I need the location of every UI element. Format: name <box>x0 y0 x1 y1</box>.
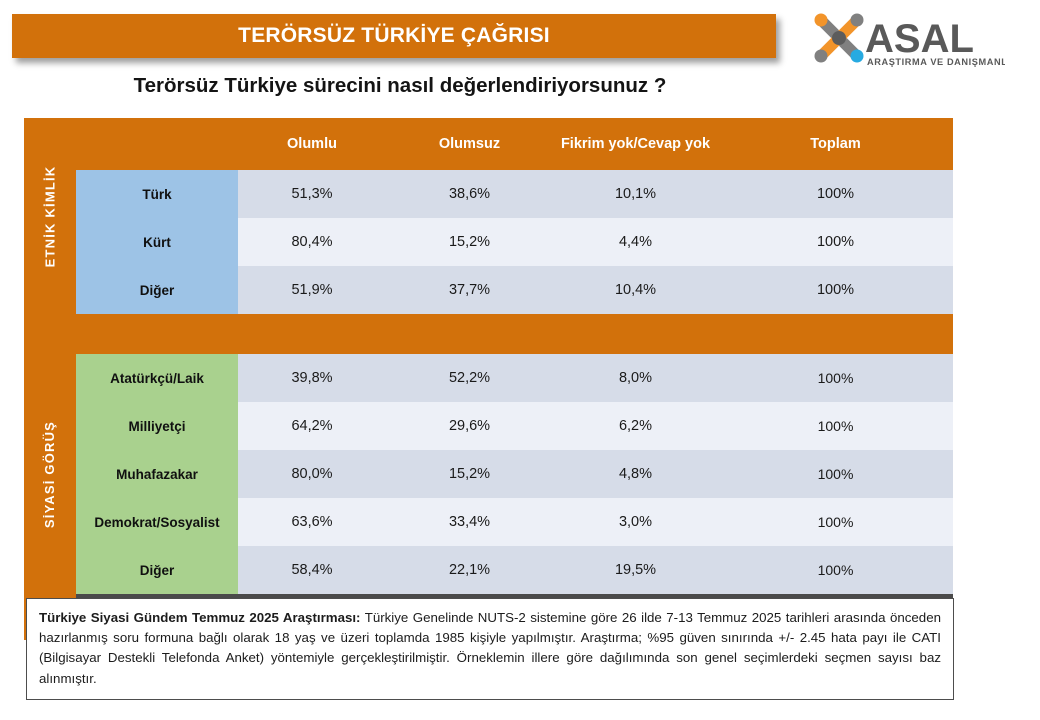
group-label-siyasi-gorus-text: SİYASİ GÖRÜŞ <box>43 420 58 527</box>
header-cell-fikrim-yok: Fikrim yok/Cevap yok <box>553 118 718 170</box>
question-title: Terörsüz Türkiye sürecini nasıl değerlen… <box>0 74 800 98</box>
footnote-lead: Türkiye Siyasi Gündem Temmuz 2025 Araştı… <box>39 610 361 625</box>
group-label-etnik-kimlik-text: ETNİK KİMLİK <box>43 165 58 267</box>
group-label-siyasi-gorus: SİYASİ GÖRÜŞ <box>24 354 76 594</box>
cell-ataturkcu-fikrim-yok: 8,0% <box>553 354 718 402</box>
cell-demokrat-olumsuz: 33,4% <box>386 498 553 546</box>
row-label-demokrat-sosyalist: Demokrat/Sosyalist <box>76 498 238 546</box>
logo-tagline: ARAŞTIRMA VE DANIŞMANLIK <box>867 57 1005 67</box>
cell-kurt-fikrim-yok: 4,4% <box>553 218 718 266</box>
row-label-ataturkcu-laik: Atatürkçü/Laik <box>76 354 238 402</box>
banner-title: TERÖRSÜZ TÜRKİYE ÇAĞRISI <box>238 24 550 48</box>
title-banner: TERÖRSÜZ TÜRKİYE ÇAĞRISI <box>12 14 776 58</box>
header-cell-olumlu: Olumlu <box>238 118 386 170</box>
table-row: Milliyetçi 64,2% 29,6% 6,2% 100% <box>24 402 953 450</box>
table-row: Diğer 51,9% 37,7% 10,4% 100% <box>24 266 953 314</box>
results-table-container: ETNİK KİMLİK Olumlu Olumsuz Fikrim yok/C… <box>24 118 953 640</box>
cell-etnik-diger-olumlu: 51,9% <box>238 266 386 314</box>
table-row: Kürt 80,4% 15,2% 4,4% 100% <box>24 218 953 266</box>
row-label-turk: Türk <box>76 170 238 218</box>
cell-kurt-toplam: 100% <box>718 218 953 266</box>
logo-wordmark: ASAL <box>865 17 974 61</box>
table-row: Diğer 58,4% 22,1% 19,5% 100% <box>24 546 953 594</box>
cell-muhafazakar-toplam: 100% <box>718 450 953 498</box>
cell-milliyetci-olumsuz: 29,6% <box>386 402 553 450</box>
cell-etnik-diger-fikrim-yok: 10,4% <box>553 266 718 314</box>
cell-ataturkcu-olumlu: 39,8% <box>238 354 386 402</box>
cell-ataturkcu-toplam: 100% <box>718 354 953 402</box>
table-row: Türk 51,3% 38,6% 10,1% 100% <box>24 170 953 218</box>
cell-kurt-olumlu: 80,4% <box>238 218 386 266</box>
separator-side <box>24 314 76 354</box>
section-separator-row <box>24 314 953 354</box>
cell-ataturkcu-olumsuz: 52,2% <box>386 354 553 402</box>
cell-demokrat-fikrim-yok: 3,0% <box>553 498 718 546</box>
cell-demokrat-toplam: 100% <box>718 498 953 546</box>
table-header-row: ETNİK KİMLİK Olumlu Olumsuz Fikrim yok/C… <box>24 118 953 170</box>
cell-siyasi-diger-olumlu: 58,4% <box>238 546 386 594</box>
methodology-footnote: Türkiye Siyasi Gündem Temmuz 2025 Araştı… <box>26 598 954 700</box>
results-table: ETNİK KİMLİK Olumlu Olumsuz Fikrim yok/C… <box>24 118 953 640</box>
cell-etnik-diger-olumsuz: 37,7% <box>386 266 553 314</box>
table-row: Demokrat/Sosyalist 63,6% 33,4% 3,0% 100% <box>24 498 953 546</box>
cell-turk-olumlu: 51,3% <box>238 170 386 218</box>
asal-logo-svg: ASAL ARAŞTIRMA VE DANIŞMANLIK <box>805 10 1005 72</box>
row-label-etnik-diger: Diğer <box>76 266 238 314</box>
cell-turk-toplam: 100% <box>718 170 953 218</box>
cell-muhafazakar-olumlu: 80,0% <box>238 450 386 498</box>
cell-demokrat-olumlu: 63,6% <box>238 498 386 546</box>
table-row: Muhafazakar 80,0% 15,2% 4,8% 100% <box>24 450 953 498</box>
cell-turk-olumsuz: 38,6% <box>386 170 553 218</box>
header-cell-toplam: Toplam <box>718 118 953 170</box>
cell-muhafazakar-fikrim-yok: 4,8% <box>553 450 718 498</box>
cell-siyasi-diger-fikrim-yok: 19,5% <box>553 546 718 594</box>
row-label-siyasi-diger: Diğer <box>76 546 238 594</box>
row-label-muhafazakar: Muhafazakar <box>76 450 238 498</box>
cell-etnik-diger-toplam: 100% <box>718 266 953 314</box>
cell-kurt-olumsuz: 15,2% <box>386 218 553 266</box>
cell-siyasi-diger-toplam: 100% <box>718 546 953 594</box>
header-cell-blank <box>76 118 238 170</box>
slide-root: TERÖRSÜZ TÜRKİYE ÇAĞRISI ASAL ARAŞTIRMA … <box>0 0 1040 720</box>
table-row: SİYASİ GÖRÜŞ Atatürkçü/Laik 39,8% 52,2% … <box>24 354 953 402</box>
cell-muhafazakar-olumsuz: 15,2% <box>386 450 553 498</box>
asal-logo: ASAL ARAŞTIRMA VE DANIŞMANLIK <box>805 10 1005 72</box>
row-label-kurt: Kürt <box>76 218 238 266</box>
group-label-etnik-kimlik: ETNİK KİMLİK <box>24 118 76 314</box>
cell-milliyetci-fikrim-yok: 6,2% <box>553 402 718 450</box>
row-label-milliyetci: Milliyetçi <box>76 402 238 450</box>
cell-turk-fikrim-yok: 10,1% <box>553 170 718 218</box>
cell-siyasi-diger-olumsuz: 22,1% <box>386 546 553 594</box>
separator-band <box>76 314 953 354</box>
logo-mark-icon <box>815 14 864 63</box>
cell-milliyetci-olumlu: 64,2% <box>238 402 386 450</box>
cell-milliyetci-toplam: 100% <box>718 402 953 450</box>
header-cell-olumsuz: Olumsuz <box>386 118 553 170</box>
